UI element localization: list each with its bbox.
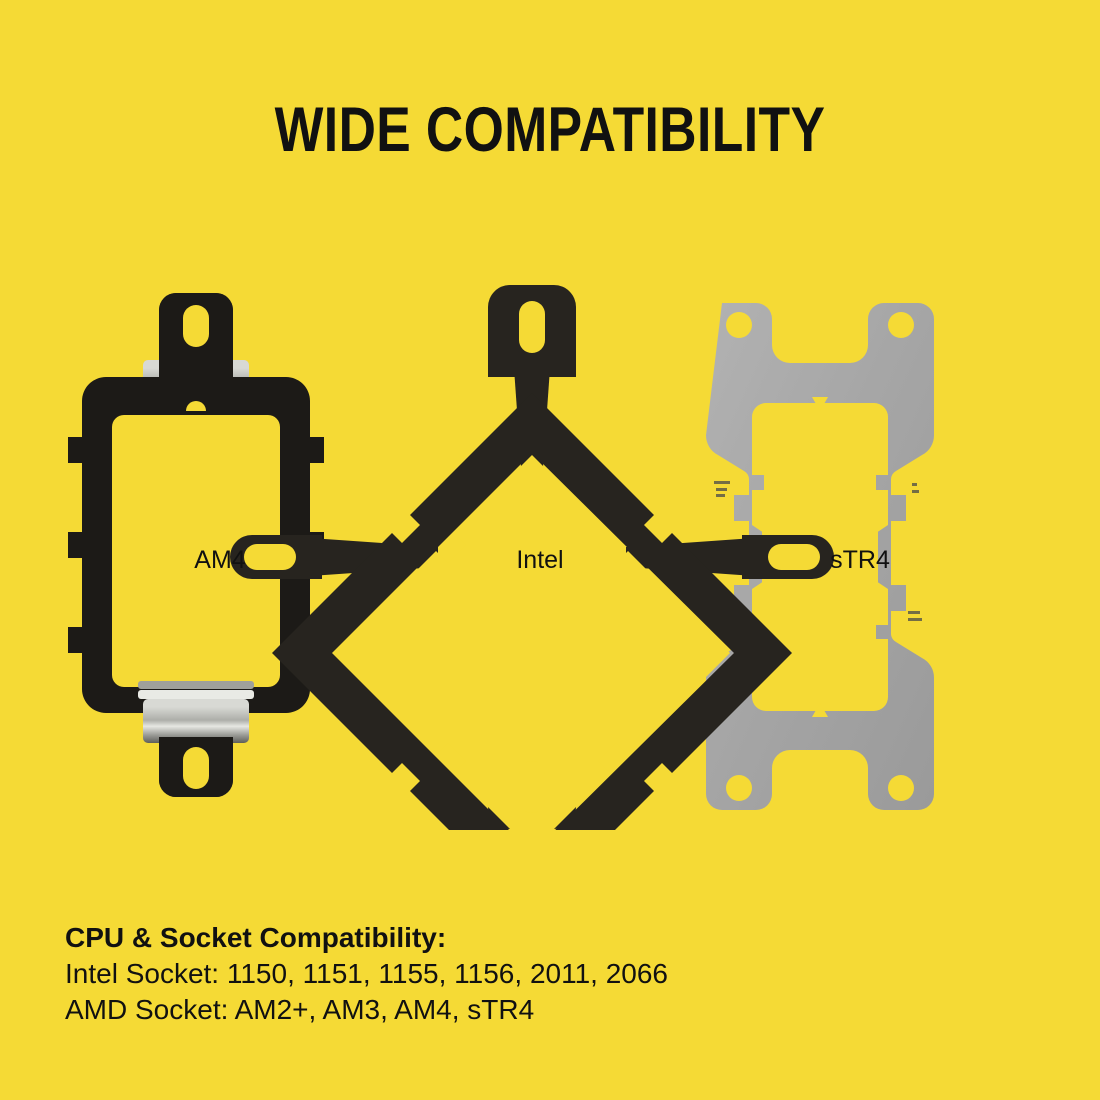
am4-hole-bottom <box>183 747 209 789</box>
intel-hole-top <box>519 301 545 353</box>
intel-hole-bottom <box>519 761 545 813</box>
str4-hole-bottom-right <box>888 775 914 801</box>
bracket-label-am4: AM4 <box>150 548 290 573</box>
specs-amd-sockets: AMD Socket: AM2+, AM3, AM4, sTR4 <box>65 992 1025 1028</box>
str4-hole-top-right <box>888 312 914 338</box>
am4-chrome-clip-bottom <box>138 681 254 743</box>
am4-hole-top <box>183 305 209 347</box>
specs-heading: CPU & Socket Compatibility: <box>65 920 1025 956</box>
str4-hole-bottom-left <box>726 775 752 801</box>
specs-intel-sockets: Intel Socket: 1150, 1151, 1155, 1156, 20… <box>65 956 1025 992</box>
bracket-label-intel: Intel <box>470 548 610 573</box>
page-title: WIDE COMPATIBILITY <box>99 98 1001 162</box>
str4-hole-top-left <box>726 312 752 338</box>
compatibility-infographic: WIDE COMPATIBILITY <box>0 0 1100 1100</box>
compatibility-specs: CPU & Socket Compatibility: Intel Socket… <box>65 920 1025 1028</box>
bracket-label-str4: sTR4 <box>790 548 930 573</box>
